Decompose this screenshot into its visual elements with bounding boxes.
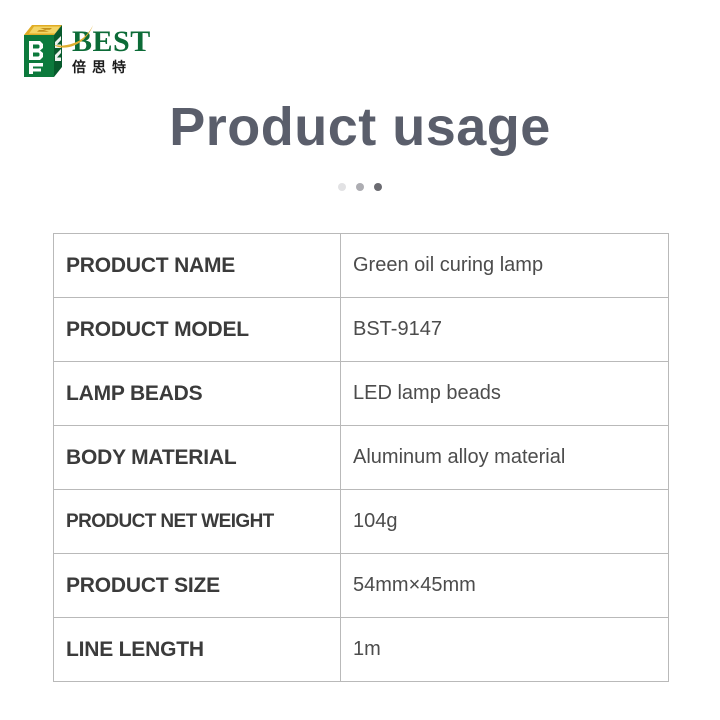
spec-label-body-material: BODY MATERIAL [54,426,341,490]
table-row: PRODUCT NAME Green oil curing lamp [54,234,669,298]
table-row: LINE LENGTH 1m [54,618,669,682]
table-row: PRODUCT MODEL BST-9147 [54,298,669,362]
spec-value-line-length: 1m [341,618,669,682]
logo-wordmark-text: BEST [72,27,151,57]
logo-wordmark-cn: 倍思特 [72,60,151,76]
product-spec-table: PRODUCT NAME Green oil curing lamp PRODU… [53,233,669,682]
brand-logo: BEST 倍思特 [20,22,151,80]
spec-label-lamp-beads: LAMP BEADS [54,362,341,426]
table-row: BODY MATERIAL Aluminum alloy material [54,426,669,490]
spec-value-product-model: BST-9147 [341,298,669,362]
spec-label-product-name: PRODUCT NAME [54,234,341,298]
spec-value-product-net-weight: 104g [341,490,669,554]
logo-wordmark: BEST 倍思特 [72,23,151,79]
table-row: PRODUCT SIZE 54mm×45mm [54,554,669,618]
carousel-dot-1[interactable] [338,183,346,191]
page-title: Product usage [0,95,720,159]
spec-value-body-material: Aluminum alloy material [341,426,669,490]
carousel-dot-indicator [0,183,720,191]
table-row: LAMP BEADS LED lamp beads [54,362,669,426]
spec-value-lamp-beads: LED lamp beads [341,362,669,426]
spec-label-product-model: PRODUCT MODEL [54,298,341,362]
spec-value-product-name: Green oil curing lamp [341,234,669,298]
spec-label-line-length: LINE LENGTH [54,618,341,682]
spec-label-product-net-weight: PRODUCT NET WEIGHT [54,490,341,554]
carousel-dot-3[interactable] [374,183,382,191]
table-row: PRODUCT NET WEIGHT 104g [54,490,669,554]
carousel-dot-2[interactable] [356,183,364,191]
spec-value-product-size: 54mm×45mm [341,554,669,618]
best-cube-logo-icon [20,23,66,79]
spec-label-product-size: PRODUCT SIZE [54,554,341,618]
